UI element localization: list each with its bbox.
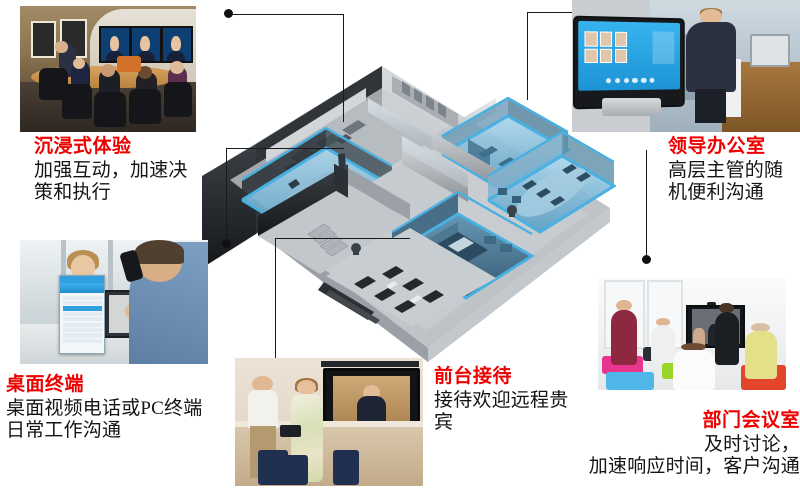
callout-desktop-title: 桌面终端 <box>6 374 221 396</box>
softphone-window-graphic <box>59 275 104 354</box>
callout-immersive-desc-line-2: 策和执行 <box>34 182 204 204</box>
department-meeting-room-photo <box>598 278 786 390</box>
callout-desktop: 桌面终端 桌面视频电话或PC终端 日常工作沟通 <box>6 374 221 442</box>
callout-department: 部门会议室 及时讨论， 加速响应时间，客户沟通 <box>520 410 800 478</box>
connector-reception-line-v <box>275 238 276 376</box>
callout-executive-title: 领导办公室 <box>668 136 800 158</box>
floorplan-svg <box>196 58 616 388</box>
infographic-canvas: 沉浸式体验 加强互动，加速决 策和执行 <box>0 0 800 490</box>
connector-desktop-line-h <box>226 148 344 149</box>
callout-executive: 领导办公室 高层主管的随 机便利沟通 <box>668 136 800 204</box>
office-floorplan-3d-illustration <box>196 58 616 388</box>
connector-immersive-line-v <box>343 14 344 122</box>
callout-immersive: 沉浸式体验 加强互动，加速决 策和执行 <box>34 136 204 204</box>
callout-reception-desc-line-1: 接待欢迎远程贵 <box>434 390 604 412</box>
desktop-video-endpoint-graphic <box>573 16 685 110</box>
reception-desk-photo <box>235 358 423 486</box>
executive-office-photo <box>572 0 800 132</box>
callout-immersive-title: 沉浸式体验 <box>34 136 204 158</box>
connector-executive-line-v <box>527 12 528 100</box>
callout-executive-desc-line-2: 机便利沟通 <box>668 182 800 204</box>
callout-department-desc-line-2: 加速响应时间，客户沟通 <box>520 456 800 478</box>
connector-desktop-dot <box>222 239 231 248</box>
callout-department-desc-line-1: 及时讨论， <box>520 434 800 456</box>
connector-desktop-line-v <box>226 148 227 244</box>
desktop-terminal-photo <box>20 240 208 364</box>
immersive-telepresence-room-photo <box>20 6 196 132</box>
callout-desktop-desc-line-1: 桌面视频电话或PC终端 <box>6 398 221 420</box>
callout-reception-title: 前台接待 <box>434 366 604 388</box>
connector-immersive-dot <box>224 9 233 18</box>
connector-immersive-line-h <box>231 14 344 15</box>
callout-immersive-desc-line-1: 加强互动，加速决 <box>34 160 204 182</box>
callout-department-title: 部门会议室 <box>520 410 800 432</box>
connector-reception-line-h <box>275 238 410 239</box>
connector-department-line-v <box>646 150 647 258</box>
connector-department-dot <box>642 255 651 264</box>
callout-desktop-desc-line-2: 日常工作沟通 <box>6 420 221 442</box>
callout-executive-desc-line-1: 高层主管的随 <box>668 160 800 182</box>
